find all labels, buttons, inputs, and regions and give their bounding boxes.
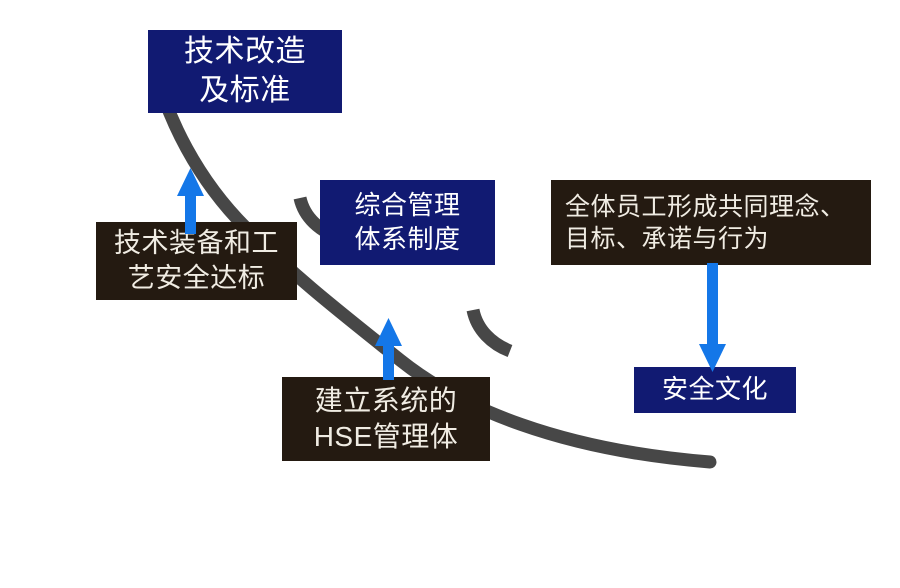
box-tech-equipment-line-2: 艺安全达标	[96, 261, 297, 296]
box-tech-equipment-line-1: 技术装备和工	[96, 226, 297, 261]
box-tech-upgrade-line-2: 及标准	[148, 72, 342, 110]
box-tech-upgrade-line-1: 技术改造	[148, 33, 342, 71]
tick-lower-icon	[473, 310, 510, 351]
box-safety-culture-line-1: 安全文化	[634, 373, 796, 406]
box-hse-system-line-2: HSE管理体	[282, 419, 490, 455]
box-tech-equipment: 技术装备和工 艺安全达标	[96, 222, 297, 300]
box-integrated-management-line-2: 体系制度	[320, 223, 495, 256]
arrow-all-staff-down-icon	[699, 263, 726, 372]
box-all-staff-line-1: 全体员工形成共同理念、	[565, 191, 871, 223]
box-all-staff-line-2: 目标、承诺与行为	[565, 223, 871, 255]
diagram-canvas: 技术改造 及标准 技术装备和工 艺安全达标 综合管理 体系制度 建立系统的 HS…	[0, 0, 900, 588]
box-safety-culture: 安全文化	[634, 367, 796, 413]
box-tech-upgrade: 技术改造 及标准	[148, 30, 342, 113]
box-hse-system: 建立系统的 HSE管理体	[282, 377, 490, 461]
box-integrated-management-line-1: 综合管理	[320, 189, 495, 222]
box-all-staff: 全体员工形成共同理念、 目标、承诺与行为	[551, 180, 871, 265]
arrow-hse-system-up-icon	[375, 318, 402, 380]
box-hse-system-line-1: 建立系统的	[282, 383, 490, 419]
box-integrated-management: 综合管理 体系制度	[320, 180, 495, 265]
